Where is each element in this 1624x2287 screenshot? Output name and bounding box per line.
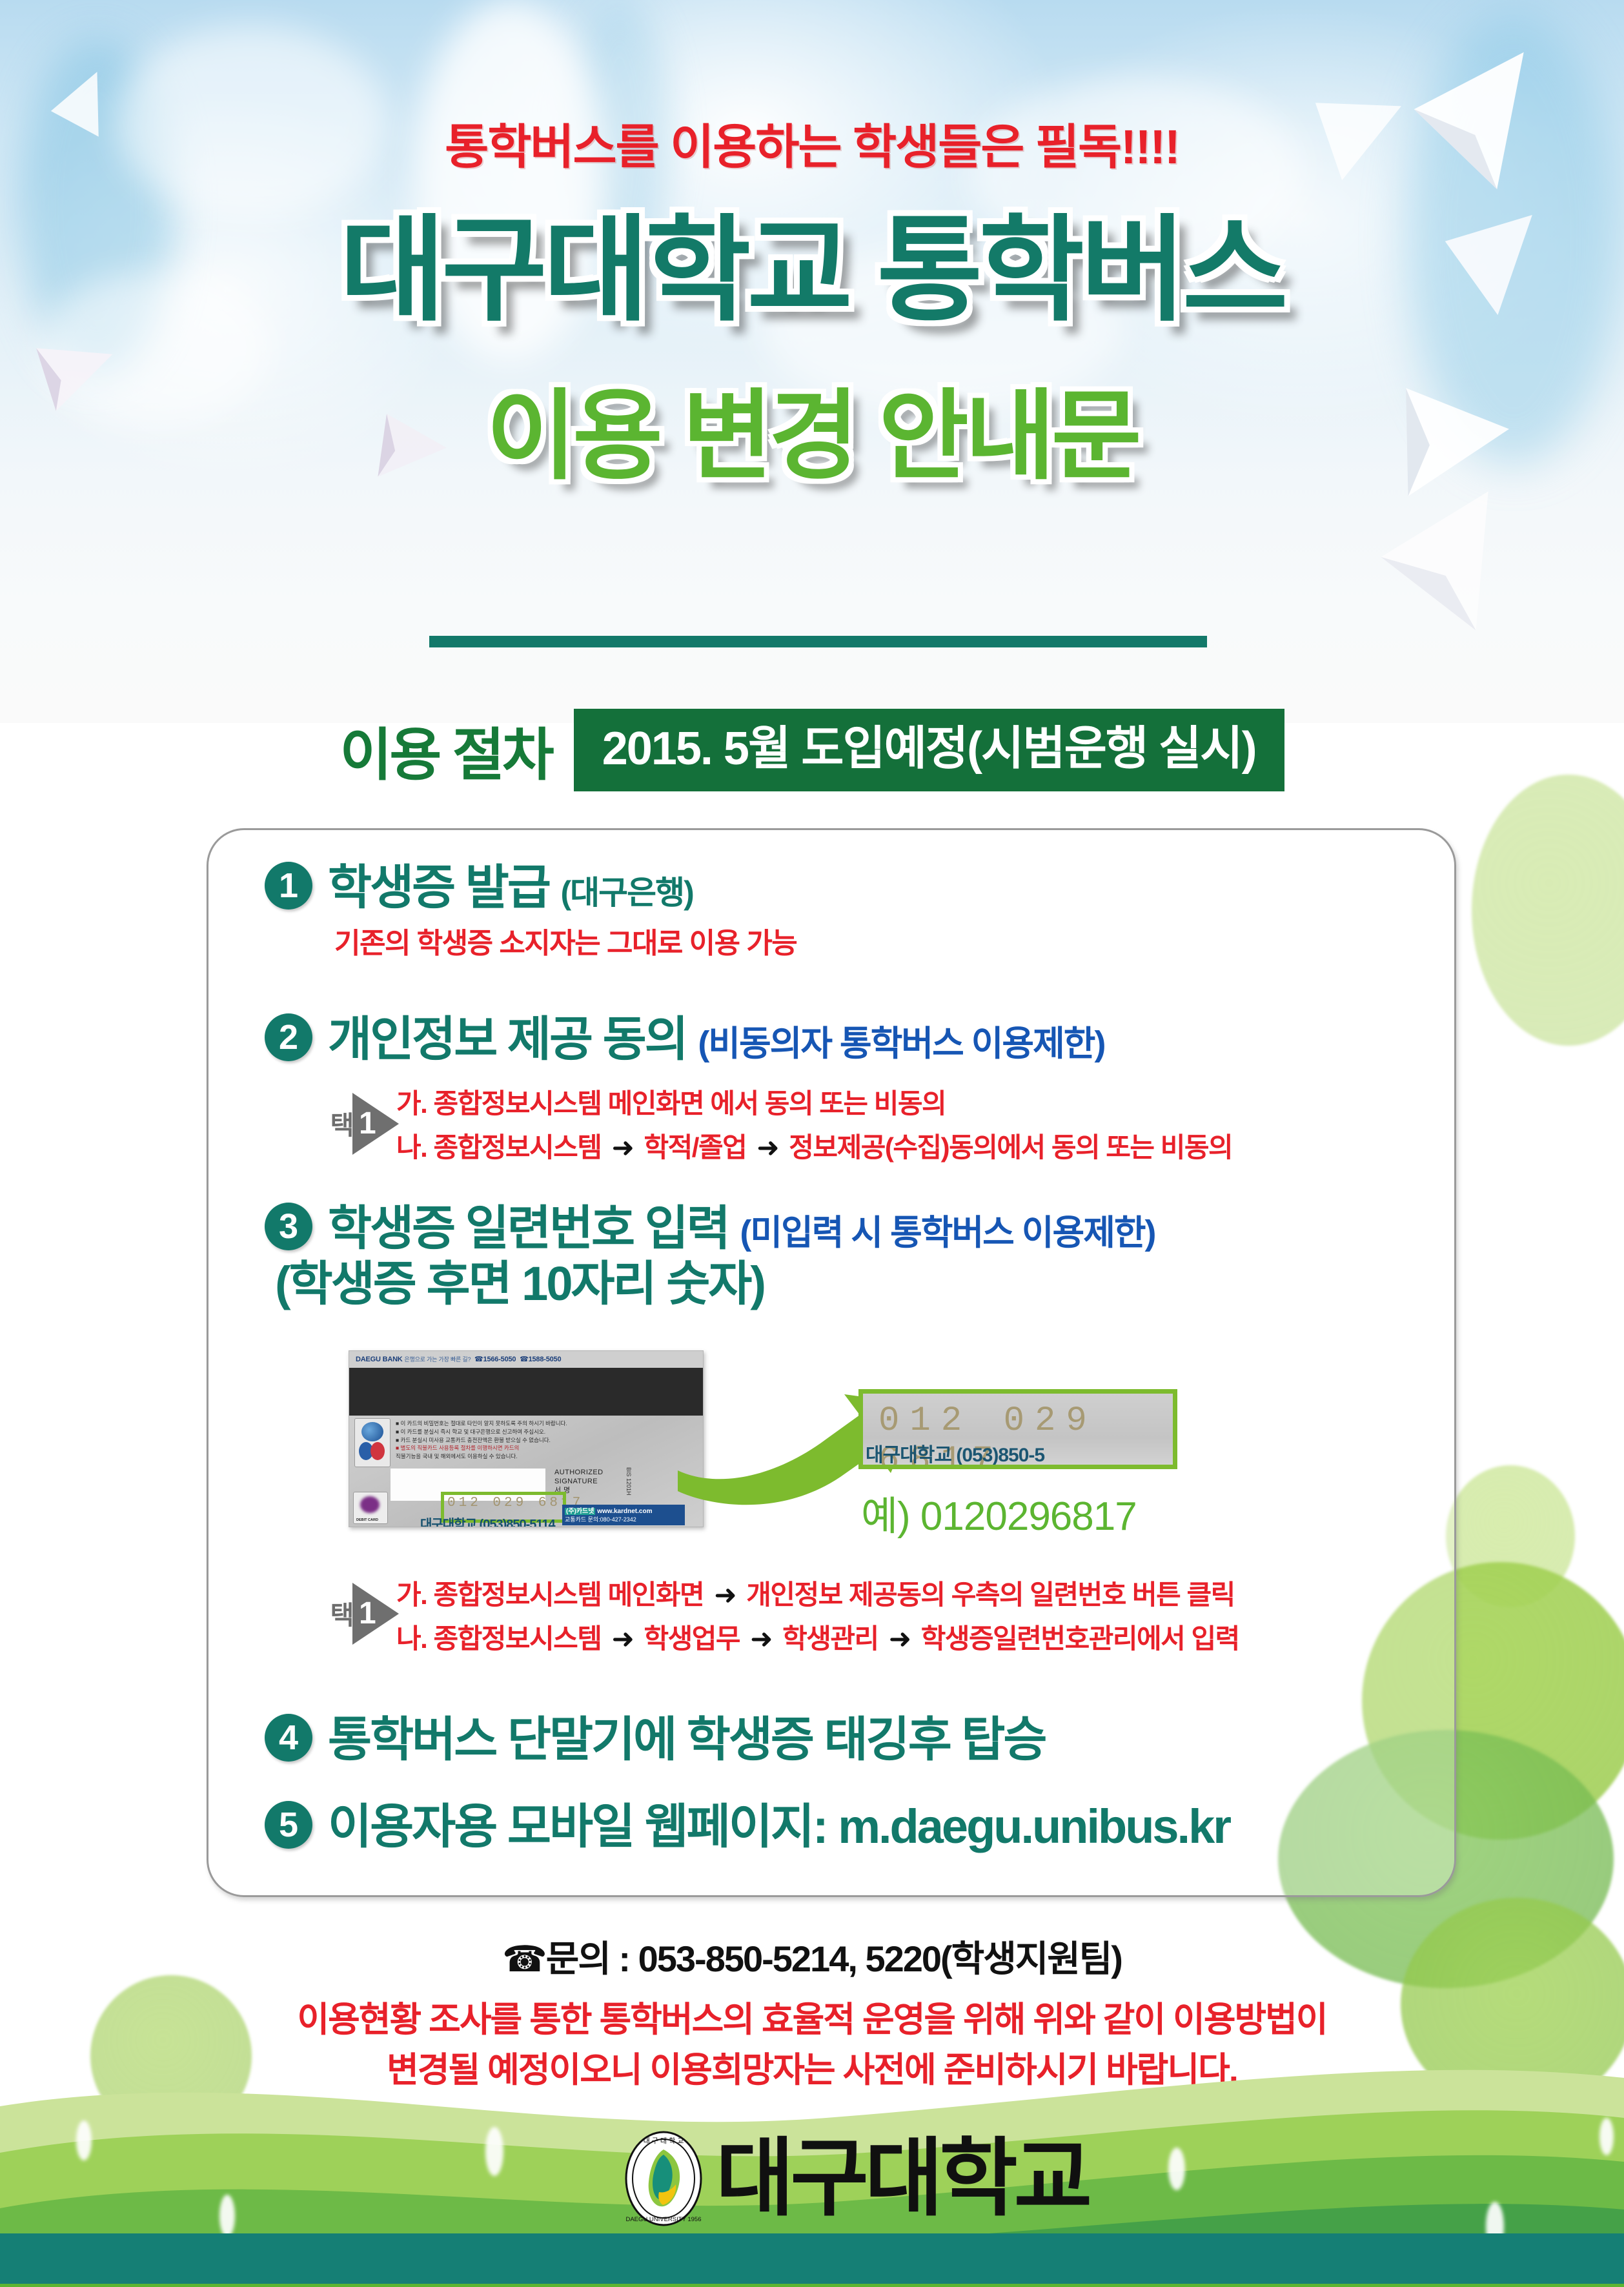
step-2-sublist: 가. 종합정보시스템 메인화면 에서 동의 또는 비동의 나. 종합정보시스템 … (396, 1082, 1232, 1170)
step-3-sub-a-1: 가. 종합정보시스템 메인화면 (396, 1580, 704, 1610)
pick-one-marker-2: 택 1 (327, 1093, 399, 1155)
kardnet-name: (주)카드넷 (565, 1508, 595, 1515)
pick-label-3: 택 (327, 1601, 352, 1626)
step-3-sub-b-1: 나. 종합정보시스템 (396, 1623, 601, 1654)
step-1-note: 기존의 학생증 소지자는 그대로 이용 가능 (334, 920, 797, 961)
callout-under-text: 대구대학교 (053)850-5 (866, 1439, 1044, 1467)
step-number-4: 4 (265, 1714, 312, 1762)
title-divider (429, 636, 1207, 647)
step-4-title: 통학버스 단말기에 학생증 태깅후 탑승 (328, 1714, 1046, 1765)
arrow-right-icon: ➜ (608, 1132, 638, 1163)
watercolor-blob (1472, 775, 1624, 1046)
step-3-sub-a: 가. 종합정보시스템 메인화면 ➜ 개인정보 제공동의 우측의 일련번호 버튼 … (396, 1573, 1239, 1617)
step-item-3: 3 학생증 일련번호 입력 (미입력 시 통학버스 이용제한) (학생증 후면 … (265, 1203, 1155, 1310)
step-number-2: 2 (265, 1013, 312, 1061)
pick-triangle-icon: 1 (352, 1583, 399, 1645)
maestro-red-icon (370, 1442, 385, 1460)
step-3-sub-b-2: 학생업무 (644, 1623, 740, 1654)
card-authorized-text: AUTHORIZED (554, 1469, 604, 1478)
card-rule-4: ■ 별도의 직불카드 사용등록 절차를 이행하시면 카드의 (396, 1444, 641, 1452)
sparkle-icon (485, 2127, 503, 2176)
step-3-title: 학생증 일련번호 입력 (미입력 시 통학버스 이용제한) (328, 1203, 1155, 1254)
card-debit-logo: DEBIT CARD (353, 1492, 388, 1524)
step-3-main-text: 학생증 일련번호 입력 (328, 1201, 729, 1255)
headline-notice: 통학버스를 이용하는 학생들은 필독!!!! (0, 108, 1624, 178)
card-bank-tagline: 은행으로 가는 가장 빠른 길? (404, 1356, 471, 1363)
debit-blob-icon (360, 1496, 380, 1513)
step-2-sub-b-3: 정보제공(수집)동의에서 동의 또는 비동의 (789, 1132, 1232, 1163)
card-bis-code: BIS 1201H (625, 1467, 632, 1496)
step-3-paren-text: (미입력 시 통학버스 이용제한) (740, 1214, 1155, 1252)
card-rule-5: 직불기능을 국내 및 해외에서도 이용하실 수 있습니다. (396, 1452, 641, 1461)
step-number-3: 3 (265, 1203, 312, 1250)
arrow-right-icon: ➜ (885, 1623, 915, 1654)
emblem-en-text: DAEGU UNIVERSITY 1956 (625, 2216, 701, 2223)
card-phone-2: ☎1588-5050 (520, 1356, 561, 1363)
serial-example-text: 예) 0120296817 (861, 1483, 1137, 1541)
step-2-main-text: 개인정보 제공 동의 (328, 1012, 687, 1066)
arrow-right-icon: ➜ (710, 1580, 740, 1610)
page-title-line1: 대구대학교 통학버스 (0, 213, 1624, 328)
card-rules-text: ■ 이 카드의 비밀번호는 절대로 타인이 알지 못하도록 주의 하시기 바랍니… (396, 1419, 641, 1461)
arrow-right-icon: ➜ (753, 1132, 782, 1163)
section-label: 이용 절차 (340, 709, 551, 791)
step-2-paren-text: (비동의자 통학버스 이용제한) (698, 1024, 1104, 1063)
step-1-title: 학생증 발급 (대구은행) (328, 862, 797, 913)
step-item-5: 5 이용자용 모바일 웹페이지: m.daegu.unibus.kr (265, 1801, 1230, 1853)
card-university-text: 대구대학교 (053)850-5114 (420, 1518, 555, 1527)
arrow-right-icon: ➜ (608, 1623, 638, 1654)
section-header: 이용 절차 2015. 5월 도입예정(시범운행 실시) (0, 709, 1624, 791)
cirrus-icon (361, 1422, 383, 1441)
notice-line-1: 이용현황 조사를 통한 통학버스의 효율적 운영을 위해 위와 같이 이용방법이 (0, 1995, 1624, 2045)
pick-triangle-icon: 1 (352, 1093, 399, 1155)
sparkle-icon (76, 2120, 92, 2160)
contact-line: ☎문의 : 053-850-5214, 5220(학생지원팀) (0, 1930, 1624, 1982)
sparkle-icon (1599, 2118, 1614, 2155)
card-phone-1: ☎1566-5050 (474, 1356, 516, 1363)
card-university-line: 대구대학교 (053)850-5114 (420, 1514, 555, 1527)
arrow-right-icon: ➜ (746, 1623, 776, 1654)
card-debit-label: DEBIT CARD (356, 1518, 378, 1522)
step-3-subtitle: (학생증 후면 10자리 숫자) (275, 1258, 1155, 1310)
step-2-title: 개인정보 제공 동의 (비동의자 통학버스 이용제한) (328, 1013, 1104, 1065)
student-card-image: DAEGU BANK 은행으로 가는 가장 빠른 길? ☎1566-5050 ☎… (349, 1350, 704, 1527)
step-1-paren-text: (대구은행) (561, 875, 693, 911)
card-bank-header: DAEGU BANK 은행으로 가는 가장 빠른 길? ☎1566-5050 ☎… (349, 1351, 703, 1368)
card-bank-name: DAEGU BANK (356, 1356, 403, 1363)
step-3-sub-b-3: 학생관리 (782, 1623, 878, 1654)
card-magnetic-stripe (349, 1368, 703, 1416)
kardnet-line1: (주)카드넷 www.kardnet.com (565, 1505, 652, 1515)
card-kardnet-band: (주)카드넷 www.kardnet.com 교통카드 문의:080-427-2… (562, 1505, 685, 1525)
sparkle-icon (219, 2195, 235, 2237)
emblem-kr-text: 대 구 대 학 교 (644, 2137, 684, 2145)
step-item-4: 4 통학버스 단말기에 학생증 태깅후 탑승 (265, 1714, 1046, 1765)
card-rule-1: ■ 이 카드의 비밀번호는 절대로 타인이 알지 못하도록 주의 하시기 바랍니… (396, 1419, 641, 1428)
pick-label-2: 택 (327, 1112, 352, 1136)
step-3-sub-b: 나. 종합정보시스템 ➜ 학생업무 ➜ 학생관리 ➜ 학생증일련번호관리에서 입… (396, 1617, 1239, 1661)
sparkle-icon (1168, 2148, 1185, 2190)
pick-number-2: 1 (359, 1106, 376, 1141)
step-2-sub-b-2: 학적/졸업 (644, 1132, 747, 1163)
step-2-sub-b: 나. 종합정보시스템 ➜ 학적/졸업 ➜ 정보제공(수집)동의에서 동의 또는 … (396, 1126, 1232, 1170)
page-title-line2: 이용 변경 안내문 (0, 387, 1624, 485)
poster: 통학버스를 이용하는 학생들은 필독!!!! 대구대학교 통학버스 이용 변경 … (0, 0, 1624, 2287)
step-3-sub-a-2: 개인정보 제공동의 우측의 일련번호 버튼 클릭 (746, 1580, 1235, 1610)
step-1-main-text: 학생증 발급 (328, 860, 549, 914)
step-3-sub-b-4: 학생증일련번호관리에서 입력 (921, 1623, 1239, 1654)
kardnet-line2: 교통카드 문의:080-427-2342 (565, 1515, 636, 1523)
card-cirrus-maestro-logo (354, 1418, 391, 1467)
university-logo: 대 구 대 학 교 DAEGU UNIVERSITY 1956 대구대학교 (623, 2130, 1088, 2227)
step-3-sublist: 가. 종합정보시스템 메인화면 ➜ 개인정보 제공동의 우측의 일련번호 버튼 … (396, 1573, 1239, 1661)
kardnet-url: www.kardnet.com (597, 1508, 652, 1515)
step-number-5: 5 (265, 1801, 312, 1849)
bottom-bar (0, 2233, 1624, 2287)
serial-zoom-callout: 012 029 6817 대구대학교 (053)850-5 (858, 1389, 1177, 1469)
daegu-university-emblem-icon: 대 구 대 학 교 DAEGU UNIVERSITY 1956 (623, 2130, 704, 2227)
step-2-sub-b-1: 나. 종합정보시스템 (396, 1132, 601, 1163)
step-2-sub-a: 가. 종합정보시스템 메인화면 에서 동의 또는 비동의 (396, 1082, 1232, 1126)
step-number-1: 1 (265, 862, 312, 910)
pick-number-3: 1 (359, 1596, 376, 1631)
card-signature-text: SIGNATURE (554, 1478, 604, 1487)
card-rule-3: ■ 카드 분실시 미사용 교통카드 충전잔액은 환불 받으실 수 없습니다. (396, 1436, 641, 1445)
bottom-bar-accent (0, 2284, 1624, 2287)
step-5-title: 이용자용 모바일 웹페이지: m.daegu.unibus.kr (328, 1801, 1230, 1853)
step-item-1: 1 학생증 발급 (대구은행) 기존의 학생증 소지자는 그대로 이용 가능 (265, 862, 797, 961)
university-name: 대구대학교 (716, 2136, 1088, 2221)
section-badge: 2015. 5월 도입예정(시범운행 실시) (574, 709, 1284, 791)
card-rule-2: ■ 이 카드를 분실시 즉시 학교 및 대구은행으로 신고하여 주십시오. (396, 1428, 641, 1436)
step-item-2: 2 개인정보 제공 동의 (비동의자 통학버스 이용제한) (265, 1013, 1104, 1065)
pick-one-marker-3: 택 1 (327, 1583, 399, 1645)
